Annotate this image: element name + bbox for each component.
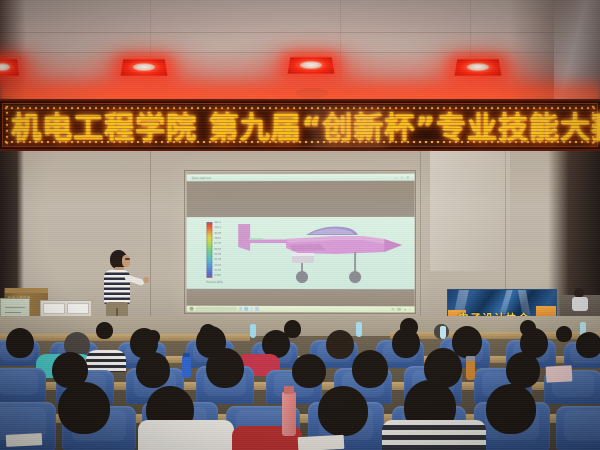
auditorium-chair[interactable] bbox=[556, 406, 600, 450]
thermos-cap bbox=[466, 356, 475, 361]
poster-cell bbox=[43, 303, 65, 314]
projection-screen: Simulation — □ ✕ 112.4 101.2 90.05 78.87… bbox=[187, 172, 415, 313]
audience-head bbox=[506, 352, 540, 388]
person-right-background bbox=[572, 288, 588, 310]
paper-sheet bbox=[6, 433, 43, 447]
audience-head bbox=[576, 332, 600, 358]
wing-root bbox=[290, 244, 326, 251]
wall-light-patch bbox=[430, 151, 510, 271]
audience-head bbox=[96, 322, 113, 339]
water-bottle bbox=[356, 322, 362, 337]
audience-head bbox=[556, 326, 572, 342]
wheel-front bbox=[296, 271, 308, 283]
projector-dim-band-top bbox=[187, 181, 415, 217]
water-bottle bbox=[250, 324, 256, 338]
projected-taskbar[interactable]: 中 ⌨ ▲ ♪ bbox=[187, 306, 415, 313]
audience-head bbox=[58, 382, 110, 434]
system-tray[interactable]: 中 ⌨ ▲ ♪ bbox=[391, 307, 411, 311]
led-banner-text: 机电工程学院 第九届“创新杯”专业技能大赛 bbox=[11, 103, 600, 147]
paper-sheet bbox=[298, 435, 345, 450]
nose-cone bbox=[384, 239, 402, 252]
glasses-icon bbox=[125, 258, 130, 260]
led-border-dots-left bbox=[5, 104, 9, 146]
auditorium-chair[interactable] bbox=[0, 368, 46, 402]
ceiling-red-glow bbox=[0, 74, 600, 100]
taskbar-app-icon-4[interactable] bbox=[255, 307, 258, 310]
thermos bbox=[466, 360, 475, 380]
audience-head bbox=[326, 330, 354, 359]
window-control-buttons[interactable]: — □ ✕ bbox=[394, 176, 410, 180]
bottle-cap bbox=[284, 386, 294, 394]
audience-area bbox=[0, 316, 600, 450]
paper-sheet bbox=[546, 365, 573, 382]
bottle-cap bbox=[183, 353, 190, 357]
poster-cell bbox=[67, 303, 89, 314]
auditorium-photo: 机电工程学院 第九届“创新杯”专业技能大赛 Simulation — □ ✕ 1… bbox=[0, 0, 600, 450]
audience-head bbox=[206, 348, 244, 388]
taskbar-app-icon-2[interactable] bbox=[245, 307, 248, 310]
audience-head bbox=[486, 384, 536, 434]
audience-head bbox=[6, 328, 34, 358]
taskbar-app-icon-3[interactable] bbox=[250, 307, 253, 310]
water-bottle bbox=[182, 356, 191, 378]
audience-head bbox=[392, 328, 420, 358]
audience-head bbox=[318, 386, 368, 436]
projected-window-title: Simulation bbox=[192, 176, 212, 180]
ceiling-light-3 bbox=[288, 57, 335, 73]
payload-pod-top bbox=[292, 253, 314, 256]
cfd-viewport: 112.4 101.2 90.05 78.87 67.70 56.53 45.3… bbox=[187, 217, 415, 289]
presenter-hand bbox=[143, 277, 149, 283]
aircraft-cfd-model bbox=[187, 217, 415, 289]
tail-fin bbox=[238, 224, 250, 251]
audience-head bbox=[292, 354, 326, 388]
water-bottle bbox=[282, 392, 296, 436]
gear-strut-rear bbox=[354, 252, 356, 274]
led-banner: 机电工程学院 第九届“创新杯”专业技能大赛 bbox=[0, 99, 600, 151]
wheel-rear bbox=[349, 271, 361, 283]
audience-shoulders bbox=[86, 350, 126, 372]
presenter-face bbox=[122, 255, 130, 267]
projector-dim-band-bottom bbox=[187, 289, 415, 307]
audience-head bbox=[352, 350, 388, 388]
boom-highlight bbox=[249, 238, 263, 240]
audience-shoulders bbox=[138, 420, 234, 450]
water-bottle bbox=[440, 326, 446, 339]
search-input[interactable] bbox=[196, 307, 238, 310]
audience-shoulders bbox=[382, 420, 486, 450]
taskbar-app-icon-1[interactable] bbox=[239, 307, 242, 310]
audience-head bbox=[136, 352, 170, 388]
start-icon[interactable] bbox=[190, 307, 194, 311]
